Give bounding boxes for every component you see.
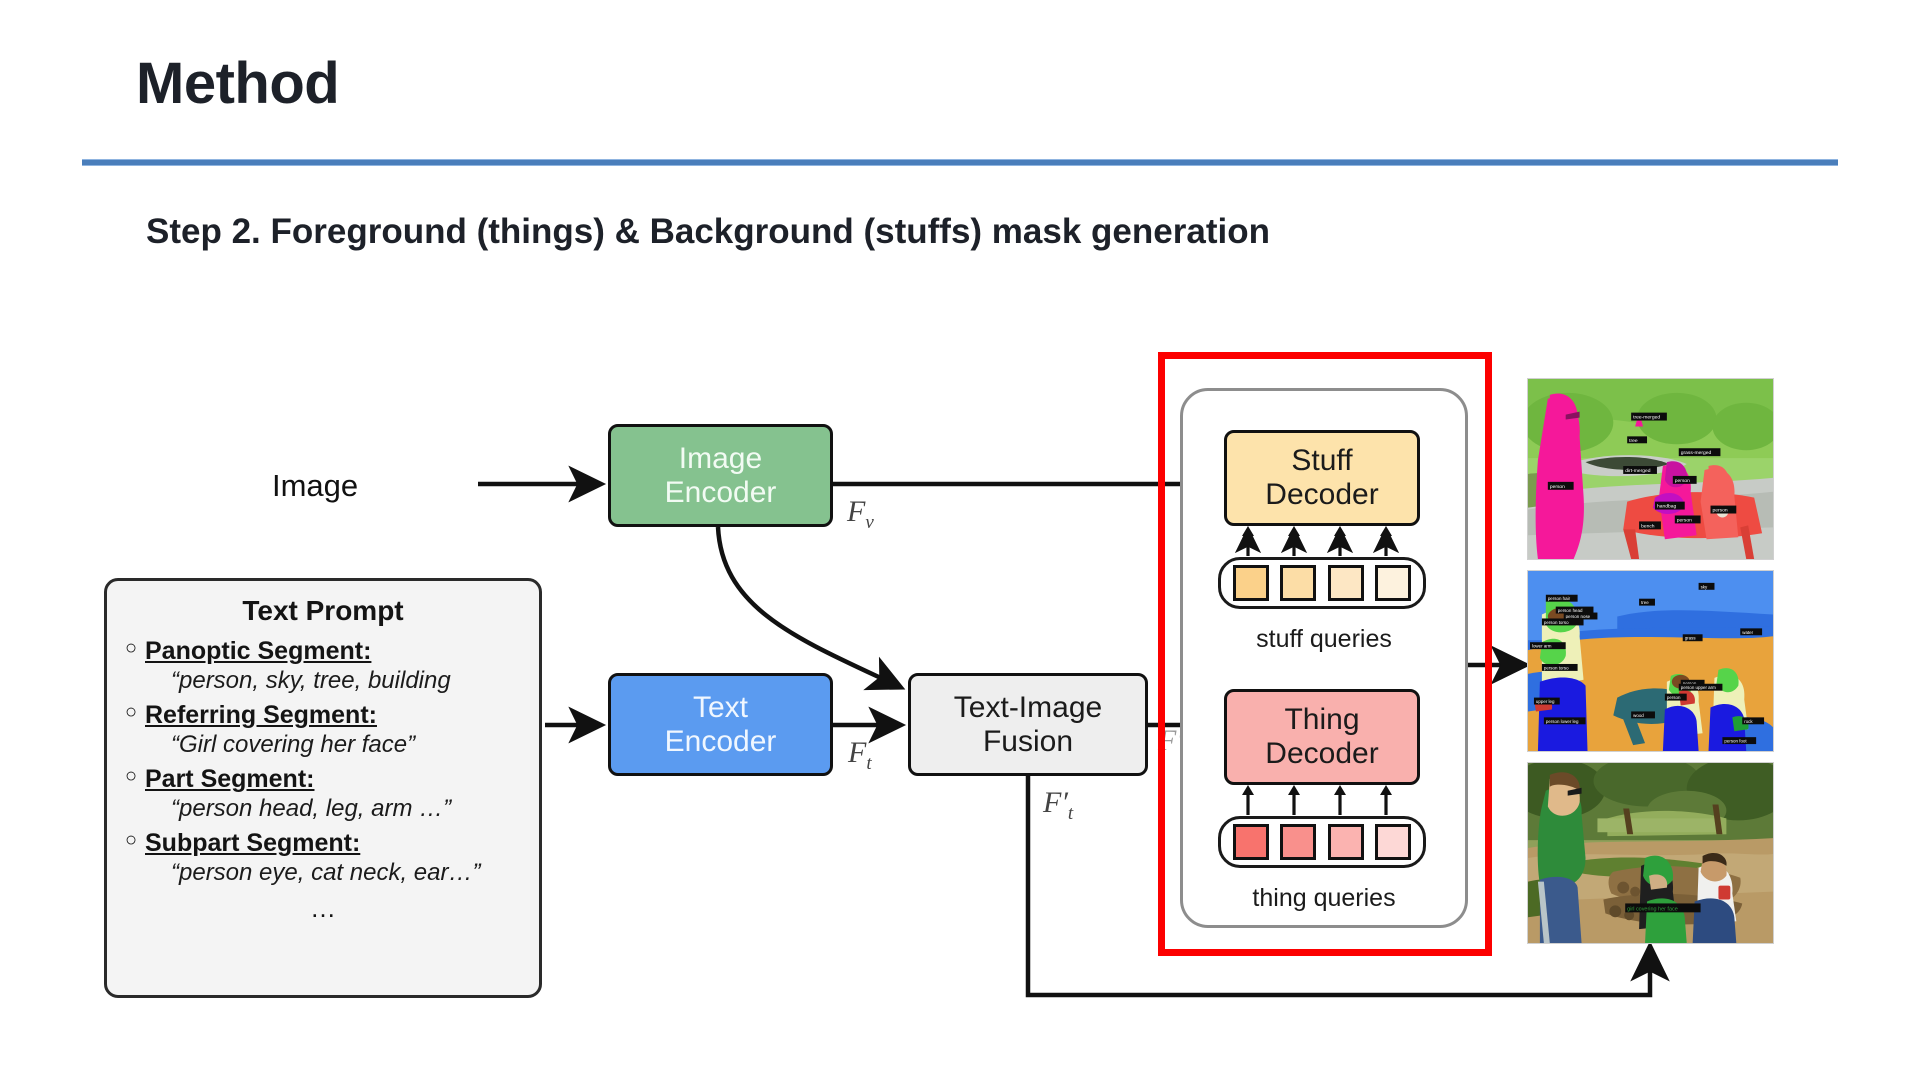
svg-text:tree: tree <box>1641 600 1649 605</box>
text-encoder-line2: Encoder <box>665 725 777 758</box>
svg-text:person: person <box>1677 517 1692 523</box>
decoder-highlight-box <box>1158 352 1492 956</box>
image-encoder-line2: Encoder <box>665 476 777 509</box>
list-item: ○Referring Segment: “Girl covering her f… <box>107 701 539 759</box>
text-prompt-list: ○Panoptic Segment: “person, sky, tree, b… <box>107 637 539 887</box>
fusion-line2: Fusion <box>983 725 1073 758</box>
prompt-example: “Girl covering her face” <box>171 731 539 759</box>
panoptic-segmentation-result: tree-merged tree grass-merged dirt-merge… <box>1527 378 1774 560</box>
svg-text:person: person <box>1712 508 1727 514</box>
feature-label-fv: Fv <box>847 495 874 534</box>
svg-text:person hair: person hair <box>1548 596 1571 601</box>
svg-text:grass-merged: grass-merged <box>1681 450 1712 456</box>
svg-text:handbag: handbag <box>1657 504 1677 510</box>
feature-label-ft: Ft <box>848 736 872 775</box>
svg-text:tree: tree <box>1629 438 1638 444</box>
svg-text:tree-merged: tree-merged <box>1633 415 1660 421</box>
fusion-line1: Text-Image <box>954 691 1102 724</box>
page-title: Method <box>136 50 339 117</box>
bullet-icon: ○ <box>125 829 145 852</box>
svg-text:person torso: person torso <box>1544 620 1569 625</box>
prompt-heading: Subpart Segment: <box>145 829 360 858</box>
prompt-example: “person head, leg, arm …” <box>171 795 539 823</box>
list-item: ○Panoptic Segment: “person, sky, tree, b… <box>107 637 539 695</box>
image-encoder-line1: Image <box>679 442 762 475</box>
text-encoder-node[interactable]: Text Encoder <box>608 673 833 776</box>
svg-text:person: person <box>1675 478 1690 484</box>
svg-text:person: person <box>1550 484 1565 490</box>
prompt-heading: Part Segment: <box>145 765 314 794</box>
list-item: ○Part Segment: “person head, leg, arm …” <box>107 765 539 823</box>
svg-text:person upper arm: person upper arm <box>1681 685 1716 690</box>
svg-text:person lower leg: person lower leg <box>1546 719 1579 724</box>
slide-canvas: Method Step 2. Foreground (things) & Bac… <box>0 0 1910 1072</box>
text-prompt-box: Text Prompt ○Panoptic Segment: “person, … <box>104 578 542 998</box>
svg-text:girl covering her face: girl covering her face <box>1627 906 1678 912</box>
text-encoder-line1: Text <box>693 691 748 724</box>
bullet-icon: ○ <box>125 637 145 660</box>
svg-text:person: person <box>1667 695 1681 700</box>
svg-text:rock: rock <box>1744 719 1753 724</box>
svg-text:person torso: person torso <box>1544 665 1569 670</box>
text-prompt-title: Text Prompt <box>107 595 539 627</box>
svg-text:upper leg: upper leg <box>1536 699 1555 704</box>
feature-label-ft-prime: F′t <box>1043 786 1073 825</box>
bullet-icon: ○ <box>125 701 145 724</box>
prompt-trailing-ellipsis: … <box>107 893 539 924</box>
svg-text:wood: wood <box>1633 713 1644 718</box>
text-image-fusion-node[interactable]: Text-Image Fusion <box>908 673 1148 776</box>
image-input-label: Image <box>272 468 358 504</box>
svg-text:person foot: person foot <box>1724 739 1747 744</box>
svg-text:sky: sky <box>1701 584 1708 589</box>
prompt-example: “person eye, cat neck, ear…” <box>171 859 539 887</box>
title-divider <box>82 159 1838 166</box>
slide-subtitle: Step 2. Foreground (things) & Background… <box>146 212 1270 252</box>
referring-segmentation-result: girl covering her face <box>1527 762 1774 944</box>
prompt-example: “person, sky, tree, building <box>171 667 539 695</box>
svg-text:dirt-merged: dirt-merged <box>1625 468 1651 474</box>
part-segmentation-result: sky tree grass person hair person head p… <box>1527 570 1774 752</box>
prompt-heading: Panoptic Segment: <box>145 637 371 666</box>
prompt-heading: Referring Segment: <box>145 701 377 730</box>
bullet-icon: ○ <box>125 765 145 788</box>
svg-text:person nose: person nose <box>1566 614 1591 619</box>
svg-text:bench: bench <box>1641 523 1655 529</box>
svg-text:water: water <box>1742 630 1753 635</box>
svg-text:lower arm: lower arm <box>1532 644 1552 649</box>
image-encoder-node[interactable]: Image Encoder <box>608 424 833 527</box>
svg-text:grass: grass <box>1685 636 1697 641</box>
list-item: ○Subpart Segment: “person eye, cat neck,… <box>107 829 539 887</box>
svg-text:person head: person head <box>1558 608 1583 613</box>
